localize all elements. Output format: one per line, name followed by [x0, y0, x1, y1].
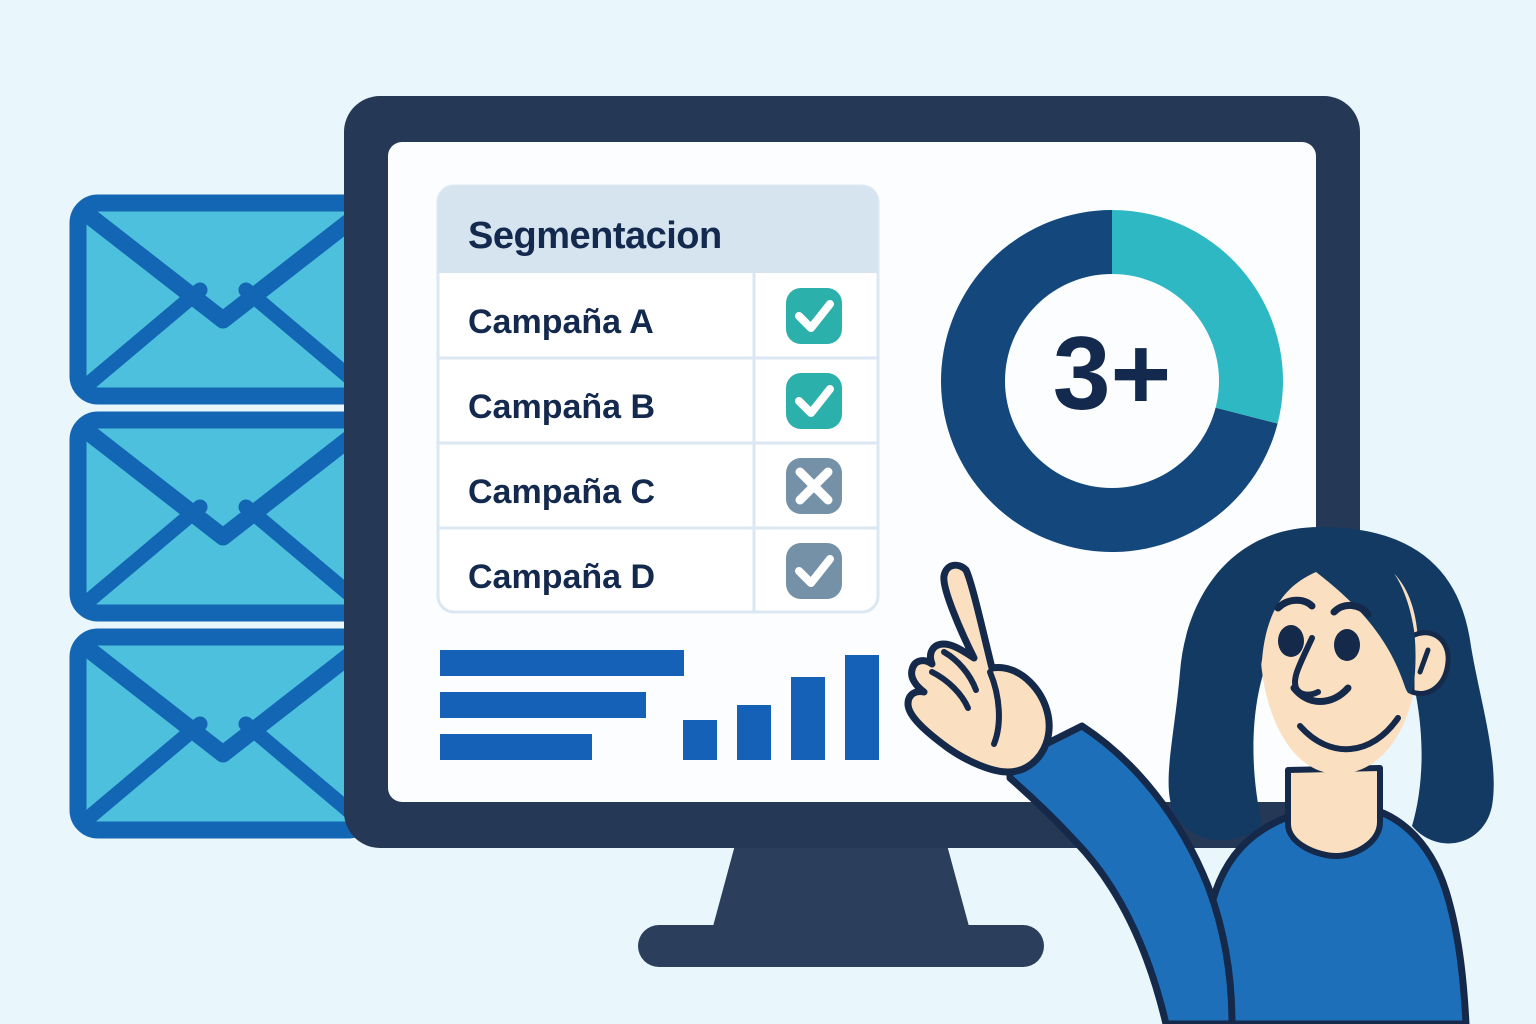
- placeholder-bar: [440, 734, 592, 760]
- placeholder-bar: [440, 650, 684, 676]
- row-label: Campaña D: [468, 558, 655, 596]
- neck: [1288, 768, 1380, 856]
- row-label: Campaña C: [468, 473, 655, 511]
- envelope-icon: [78, 203, 368, 396]
- eye-right: [1334, 629, 1360, 661]
- cross-icon[interactable]: [786, 458, 842, 514]
- envelope-stack: [78, 203, 368, 830]
- eye-left: [1278, 625, 1304, 657]
- check-icon[interactable]: [786, 288, 842, 344]
- email-segmentation-illustration: Segmentacion Campaña A Campaña B: [0, 0, 1536, 1024]
- donut-center-label: 3+: [1053, 316, 1172, 432]
- placeholder-bar: [440, 692, 646, 718]
- bar-1: [683, 720, 717, 760]
- bar-4: [845, 655, 879, 760]
- bar-3: [791, 677, 825, 760]
- row-label: Campaña B: [468, 388, 655, 426]
- bar-2: [737, 705, 771, 760]
- check-icon[interactable]: [786, 543, 842, 599]
- segmentation-donut-chart: 3+: [941, 210, 1283, 552]
- panel-header-title: Segmentacion: [468, 215, 722, 257]
- monitor-stand-base: [638, 925, 1044, 967]
- envelope-icon: [78, 637, 368, 830]
- check-icon[interactable]: [786, 373, 842, 429]
- monitor-stand-neck: [712, 845, 970, 930]
- segmentation-panel: Segmentacion Campaña A Campaña B: [438, 186, 878, 612]
- envelope-icon: [78, 420, 368, 613]
- illustration-canvas: Segmentacion Campaña A Campaña B: [0, 0, 1536, 1024]
- row-label: Campaña A: [468, 303, 654, 341]
